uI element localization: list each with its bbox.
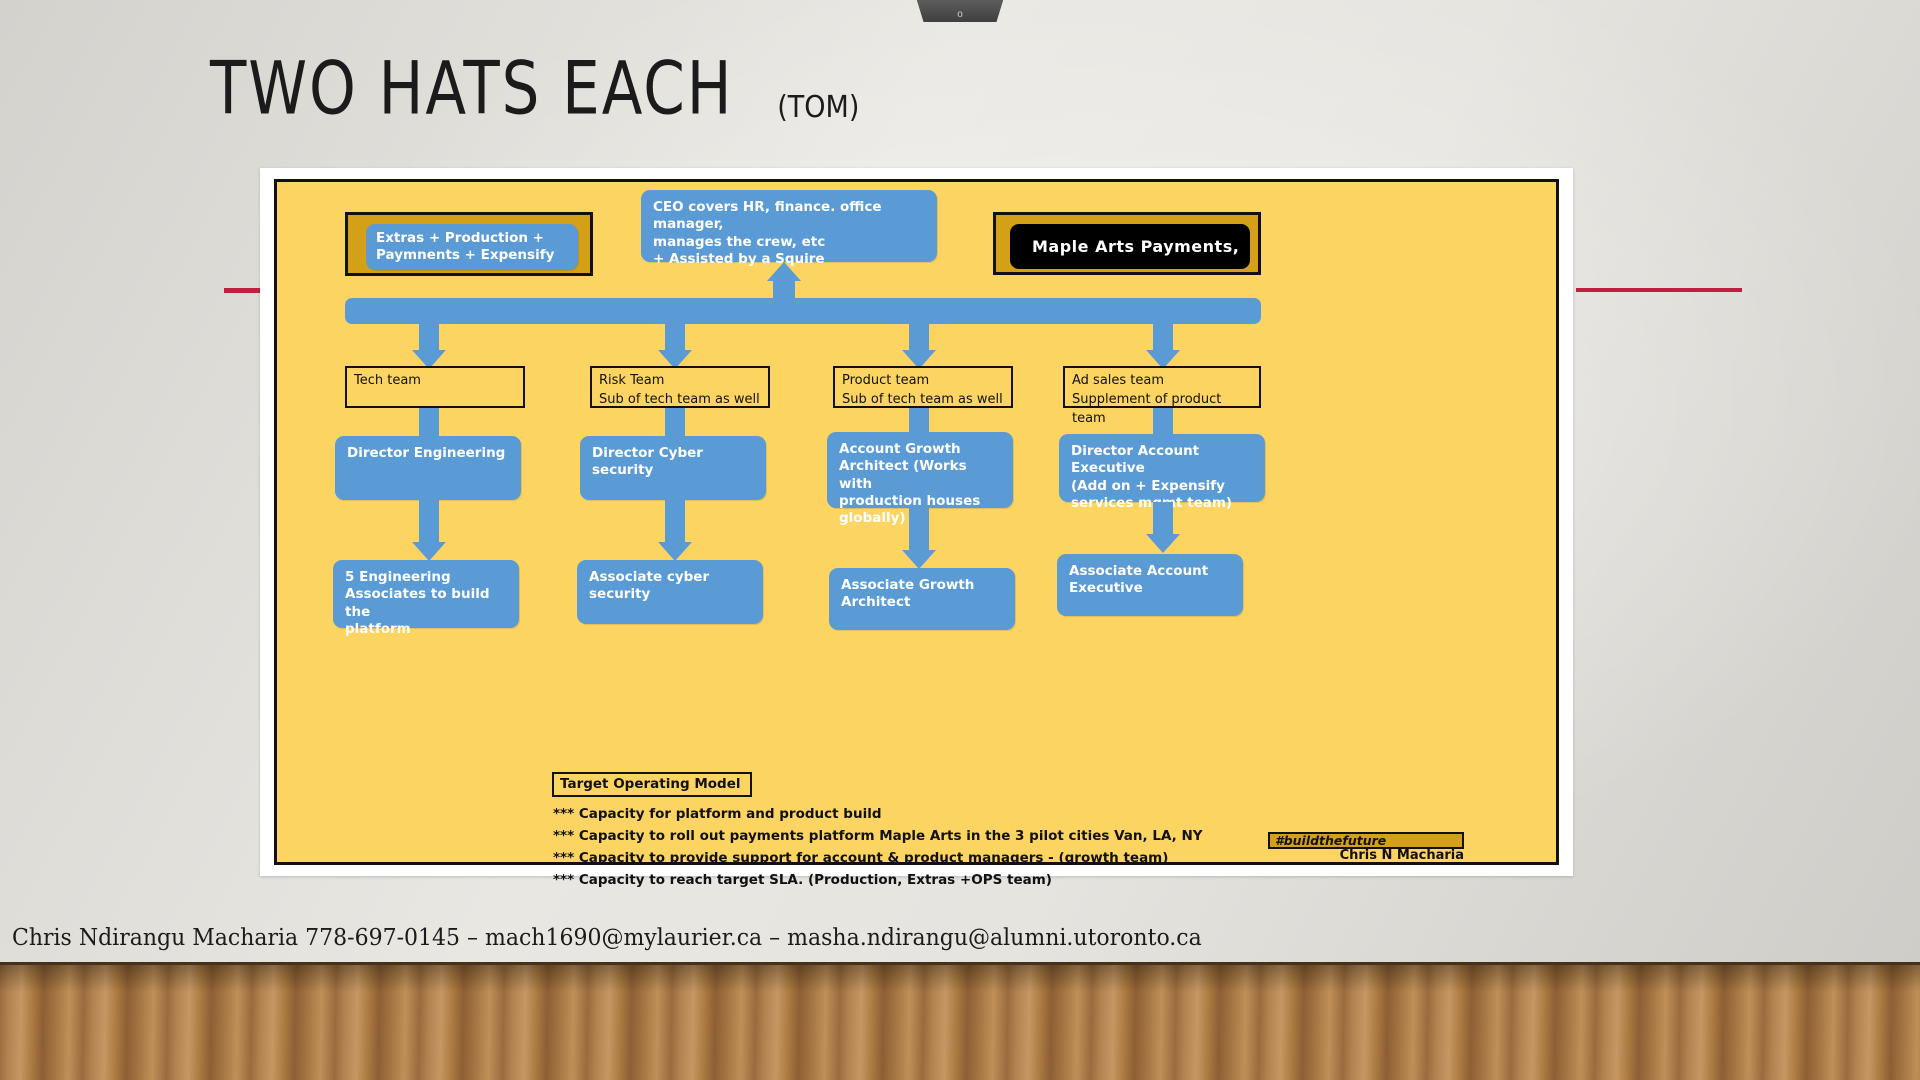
bullet-item: *** Capacity to reach target SLA. (Produ…: [553, 870, 1373, 892]
accent-rule-right: [1576, 288, 1742, 292]
capacity-bullet-list: *** Capacity for platform and product bu…: [553, 804, 1373, 891]
node-maple-arts-payments[interactable]: Maple Arts Payments,: [1010, 224, 1250, 269]
connector-shaft-adsales: [1153, 324, 1173, 352]
projector-icon: o: [912, 0, 1008, 22]
node-associate-growth-architect[interactable]: Associate Growth Architect: [829, 568, 1015, 630]
extras-gold-frame: Extras + Production + Paymnents + Expens…: [345, 212, 593, 276]
arrow-down-growth-associate-icon: [902, 550, 936, 569]
title-subtitle-text: (TOM): [777, 90, 859, 125]
node-account-growth-architect[interactable]: Account Growth Architect (Works with pro…: [827, 432, 1013, 508]
node-risk-team[interactable]: Risk Team Sub of tech team as well: [590, 366, 770, 408]
arrow-down-eng-associate-icon: [412, 542, 446, 561]
node-director-engineering[interactable]: Director Engineering: [335, 436, 521, 500]
bullet-item: *** Capacity to roll out payments platfo…: [553, 826, 1373, 848]
projector-lens-label: o: [957, 10, 963, 22]
node-director-cyber-security[interactable]: Director Cyber security: [580, 436, 766, 500]
arrow-up-to-ceo-icon: [767, 262, 801, 281]
title-main-text: TWO HATS EACH: [210, 45, 733, 131]
target-operating-model-label: Target Operating Model: [552, 772, 752, 797]
connector-shaft-eng-assoc: [419, 500, 439, 544]
arrow-down-cyber-associate-icon: [658, 542, 692, 561]
node-director-account-executive[interactable]: Director Account Executive (Add on + Exp…: [1059, 434, 1265, 502]
bullet-item: *** Capacity for platform and product bu…: [553, 804, 1373, 826]
accent-rule-left: [224, 288, 264, 293]
bullet-item: *** Capacity to provide support for acco…: [553, 848, 1373, 870]
connector-shaft-tech: [419, 324, 439, 352]
author-signature: Chris N Macharia: [1268, 848, 1464, 863]
connector-shaft-risk: [665, 324, 685, 352]
node-associate-cyber-security[interactable]: Associate cyber security: [577, 560, 763, 624]
node-associate-engineering[interactable]: 5 Engineering Associates to build the pl…: [333, 560, 519, 628]
contact-footer: Chris Ndirangu Macharia 778-697-0145 – m…: [12, 925, 1412, 951]
connector-shaft-growth-assoc: [909, 508, 929, 552]
maple-gold-frame: Maple Arts Payments,: [993, 212, 1261, 275]
page-title: TWO HATS EACH (TOM): [210, 58, 1410, 144]
diagram-frame: Extras + Production + Paymnents + Expens…: [260, 168, 1573, 876]
distribution-bar: [345, 298, 1261, 324]
diagram-canvas: Extras + Production + Paymnents + Expens…: [274, 179, 1559, 865]
floor-shadow: [0, 962, 1920, 992]
connector-shaft-acct-assoc: [1153, 502, 1173, 536]
connector-shaft-product: [909, 324, 929, 352]
node-ad-sales-team[interactable]: Ad sales team Supplement of product team: [1063, 366, 1261, 408]
arrow-down-acct-associate-icon: [1146, 534, 1180, 553]
connector-shaft-cyber-assoc: [665, 500, 685, 544]
connector-shaft-ceo: [773, 281, 795, 299]
node-ceo[interactable]: CEO covers HR, finance. office manager, …: [641, 190, 937, 262]
hashtag-badge: #buildthefuture: [1268, 832, 1464, 849]
node-associate-account-executive[interactable]: Associate Account Executive: [1057, 554, 1243, 616]
node-extras-production[interactable]: Extras + Production + Paymnents + Expens…: [366, 224, 578, 270]
node-tech-team[interactable]: Tech team: [345, 366, 525, 408]
node-product-team[interactable]: Product team Sub of tech team as well: [833, 366, 1013, 408]
